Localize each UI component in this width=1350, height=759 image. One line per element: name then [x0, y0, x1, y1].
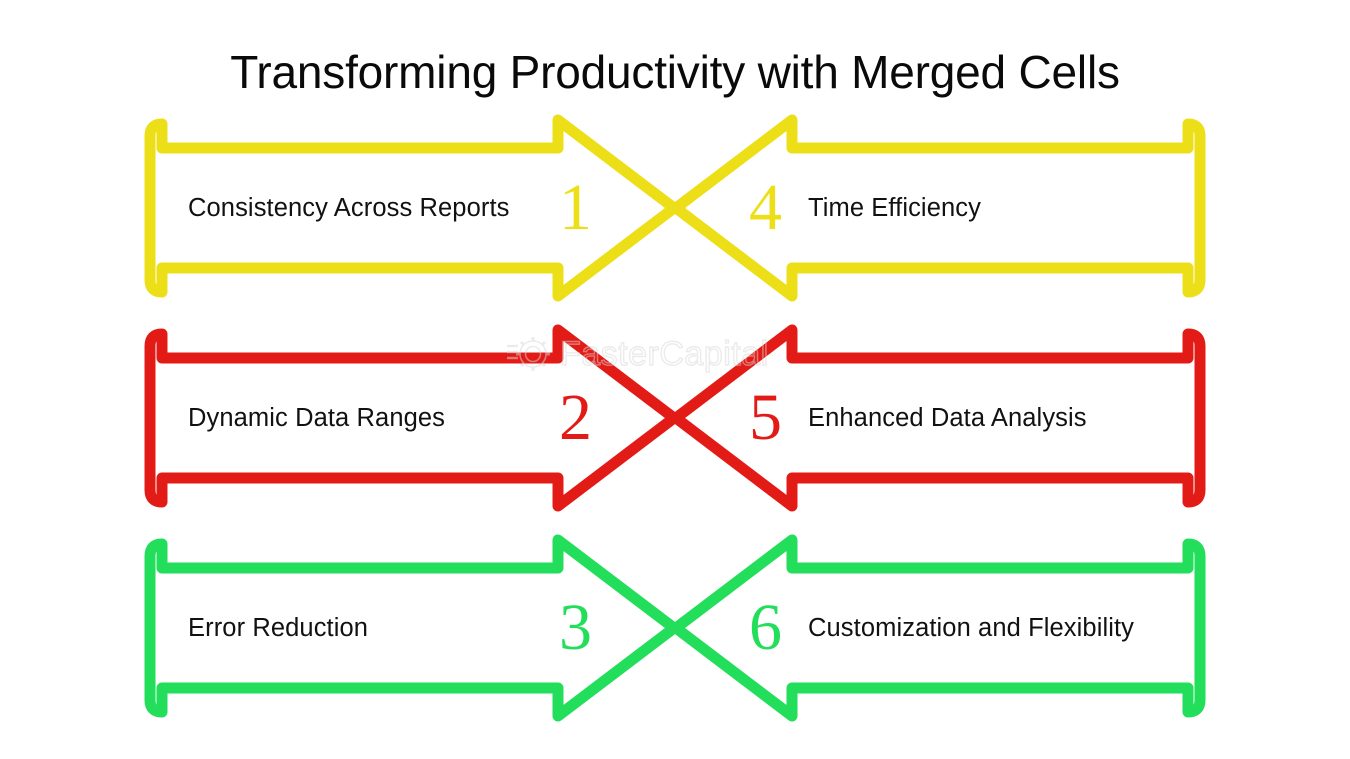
infographic-canvas: Transforming Productivity with Merged Ce…: [0, 0, 1350, 759]
arrow-label-4: Time Efficiency: [808, 188, 1138, 228]
arrow-card-5[interactable]: Enhanced Data Analysis 5: [650, 318, 1210, 518]
arrow-label-1: Consistency Across Reports: [188, 188, 518, 228]
arrow-number-2: 2: [559, 385, 592, 451]
page-title: Transforming Productivity with Merged Ce…: [0, 45, 1350, 99]
arrow-label-3: Error Reduction: [188, 608, 518, 648]
arrow-card-4[interactable]: Time Efficiency 4: [650, 108, 1210, 308]
arrow-number-3: 3: [559, 595, 592, 661]
arrow-label-5: Enhanced Data Analysis: [808, 398, 1138, 438]
arrow-row-yellow: Consistency Across Reports 1 Time Effici…: [0, 108, 1350, 308]
arrow-number-5: 5: [749, 385, 782, 451]
arrow-card-6[interactable]: Customization and Flexibility 6: [650, 528, 1210, 728]
arrow-row-red: Dynamic Data Ranges 2 Enhanced Data Anal…: [0, 318, 1350, 518]
arrow-number-1: 1: [559, 175, 592, 241]
arrow-card-1[interactable]: Consistency Across Reports 1: [140, 108, 700, 308]
arrow-row-green: Error Reduction 3 Customization and Flex…: [0, 528, 1350, 728]
arrow-number-6: 6: [749, 595, 782, 661]
arrow-card-2[interactable]: Dynamic Data Ranges 2: [140, 318, 700, 518]
arrow-card-3[interactable]: Error Reduction 3: [140, 528, 700, 728]
arrow-label-6: Customization and Flexibility: [808, 608, 1138, 648]
arrow-label-2: Dynamic Data Ranges: [188, 398, 518, 438]
arrow-number-4: 4: [749, 175, 782, 241]
